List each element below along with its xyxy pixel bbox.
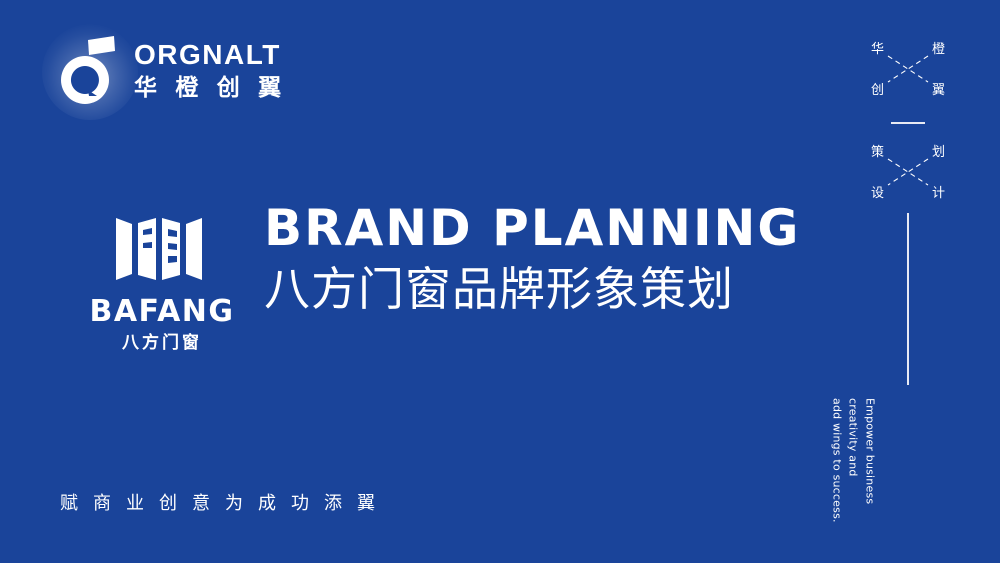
char-grid-agency-bottom-left: 创 [871,83,884,96]
agency-wordmark: ORGNALT 华 橙 创 翼 [134,41,287,99]
headline-group: BRAND PLANNING 八方门窗品牌形象策划 [264,196,800,316]
slogan: 赋 商 业 创 意 为 成 功 添 翼 [60,489,380,515]
agency-logo: ORGNALT 华 橙 创 翼 [58,34,287,106]
rail-vertical-divider [907,213,909,385]
char-grid-agency: 华 橙 创 翼 [865,38,951,100]
agency-name-cn: 华 橙 创 翼 [134,76,287,99]
char-grid-service-top-left: 策 [871,145,884,158]
bafang-window-mark [112,210,212,288]
title-block: BAFANG 八方门窗 BRAND PLANNING 八方门窗品牌形象策划 [78,196,800,351]
orgnalt-circle-mark [58,34,120,106]
slide-canvas: ORGNALT 华 橙 创 翼 BAFANG 八方门窗 [0,0,1000,563]
char-grid-service-bottom-left: 设 [871,186,884,199]
client-name-en: BAFANG [89,297,234,327]
char-grid-agency-top-left: 华 [871,42,884,55]
agency-name-en: ORGNALT [134,41,287,69]
char-grid-agency-top-right: 橙 [932,42,945,55]
headline-english: BRAND PLANNING [264,202,800,254]
rail-horizontal-divider [891,122,925,124]
client-name-cn: 八方门窗 [122,334,202,351]
right-rail: 华 橙 创 翼 策 划 设 计 Empower business creativ… [848,0,968,563]
rail-english-tagline-text: Empower business creativity and add wing… [828,398,878,523]
rail-english-tagline: Empower business creativity and add wing… [828,398,988,424]
cross-lines-icon [886,155,930,189]
char-grid-service-top-right: 划 [932,145,945,158]
char-grid-agency-bottom-right: 翼 [932,83,945,96]
orgnalt-mark-svg [58,34,120,106]
headline-chinese: 八方门窗品牌形象策划 [264,264,800,316]
char-grid-service: 策 划 设 计 [865,141,951,203]
cross-lines-icon [886,52,930,86]
char-grid-service-bottom-right: 计 [932,186,945,199]
client-logo: BAFANG 八方门窗 [78,196,246,351]
